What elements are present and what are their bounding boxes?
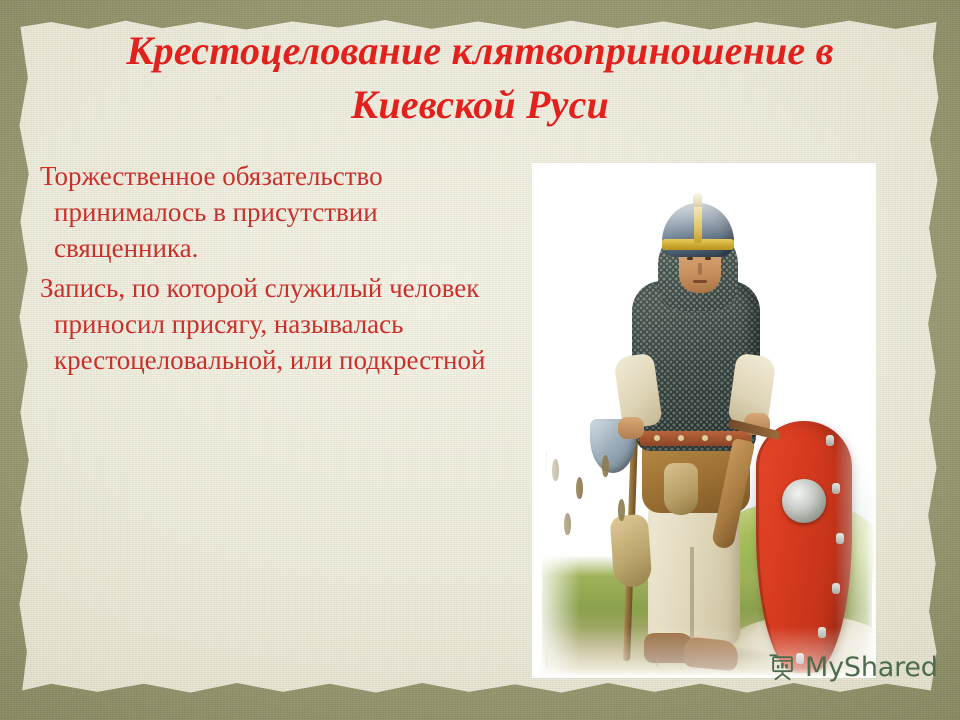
shield-rivet bbox=[836, 533, 844, 544]
belt-stud bbox=[702, 435, 708, 441]
reed-head bbox=[552, 459, 559, 481]
belt-stud bbox=[726, 435, 732, 441]
belt-stud bbox=[654, 435, 660, 441]
shield-rivet bbox=[832, 483, 840, 494]
belt-stud bbox=[678, 435, 684, 441]
reed-head bbox=[602, 455, 609, 477]
reed-head bbox=[564, 513, 571, 535]
warrior-nose bbox=[698, 263, 702, 275]
title-line-2: Киевской Руси bbox=[40, 78, 920, 132]
myshared-label: MyShared bbox=[805, 654, 938, 681]
warrior-eye-left bbox=[687, 257, 693, 260]
title-line-1: Крестоцелование клятвоприношение в bbox=[40, 24, 920, 78]
helmet-spike bbox=[693, 193, 702, 207]
shield-rivet bbox=[826, 435, 834, 446]
warrior-mouth bbox=[693, 280, 707, 283]
slide-title: Крестоцелование клятвоприношение в Киевс… bbox=[40, 24, 920, 132]
myshared-watermark: MyShared bbox=[768, 652, 938, 682]
flipchart-icon bbox=[768, 652, 798, 682]
illustration-reeds bbox=[546, 451, 658, 666]
body-text-column: Торжественное обязательство принималось … bbox=[40, 158, 492, 382]
reed-head bbox=[618, 499, 625, 521]
warrior-hand-left bbox=[618, 417, 644, 439]
illustration-card bbox=[532, 163, 876, 678]
reed-head bbox=[576, 477, 583, 499]
body-paragraph-2: Запись, по которой служилый человек прин… bbox=[40, 270, 492, 378]
warrior-eye-right bbox=[705, 257, 711, 260]
body-paragraph-1: Торжественное обязательство принималось … bbox=[40, 158, 492, 266]
helmet-rib bbox=[694, 203, 702, 243]
warrior-illustration bbox=[532, 163, 876, 678]
shield-boss bbox=[782, 479, 826, 523]
warrior-pouch bbox=[664, 463, 698, 515]
presentation-slide: Крестоцелование клятвоприношение в Киевс… bbox=[0, 0, 960, 720]
